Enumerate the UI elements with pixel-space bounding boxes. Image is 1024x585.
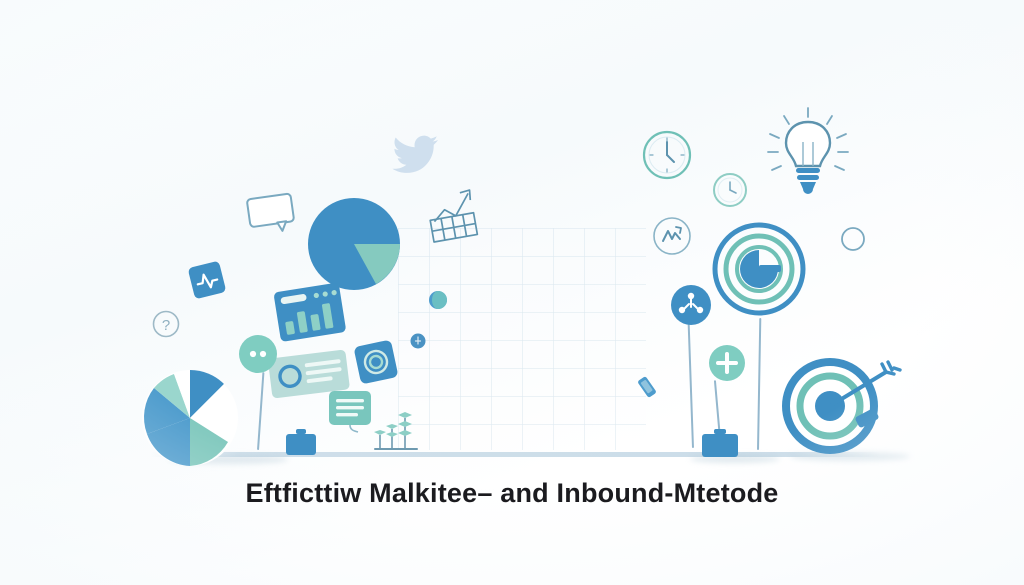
bar-chart-growth-icon: [424, 186, 486, 248]
anchor-dot-icon: [410, 333, 426, 349]
clock-icon-small: [712, 172, 748, 208]
camera-square-icon: [352, 338, 400, 386]
plant-growth-icon: [372, 404, 424, 452]
target-balloon-stem: [757, 318, 761, 450]
dashboard-card-icon: [275, 283, 347, 343]
twitter-bird-icon: [394, 134, 440, 174]
pulse-square-icon: [185, 258, 229, 302]
page-title: Eftficttiw Malkitee– and Inbound-Mtetode: [0, 478, 1024, 509]
pie-chart-small: [140, 368, 240, 468]
share-balloon-icon: [668, 282, 714, 328]
briefcase-icon-right: [700, 428, 740, 458]
lightbulb-icon: [762, 104, 854, 202]
svg-text:?: ?: [162, 317, 170, 334]
target-balloon-icon: [712, 222, 806, 316]
pie-chart-large: [306, 196, 402, 292]
analytics-circle-icon: [652, 216, 692, 256]
smiley-balloon-stem: [257, 372, 264, 450]
phone-tile-icon: [634, 374, 660, 400]
question-mark-icon: ?: [150, 308, 182, 340]
illustration-canvas: ?: [0, 0, 1024, 585]
grid-panel: [398, 228, 646, 450]
share-balloon-stem: [688, 320, 694, 448]
ring-outline-icon: [840, 226, 866, 252]
globe-dot-icon: [428, 290, 448, 310]
briefcase-icon-left: [284, 428, 318, 456]
clock-icon-large: [642, 130, 692, 180]
target-dart-icon: [782, 358, 910, 454]
smiley-balloon-icon: [236, 332, 280, 376]
speech-bubble-icon: [246, 192, 300, 236]
plus-balloon-icon: [706, 342, 748, 384]
document-card-icon: [326, 388, 374, 432]
